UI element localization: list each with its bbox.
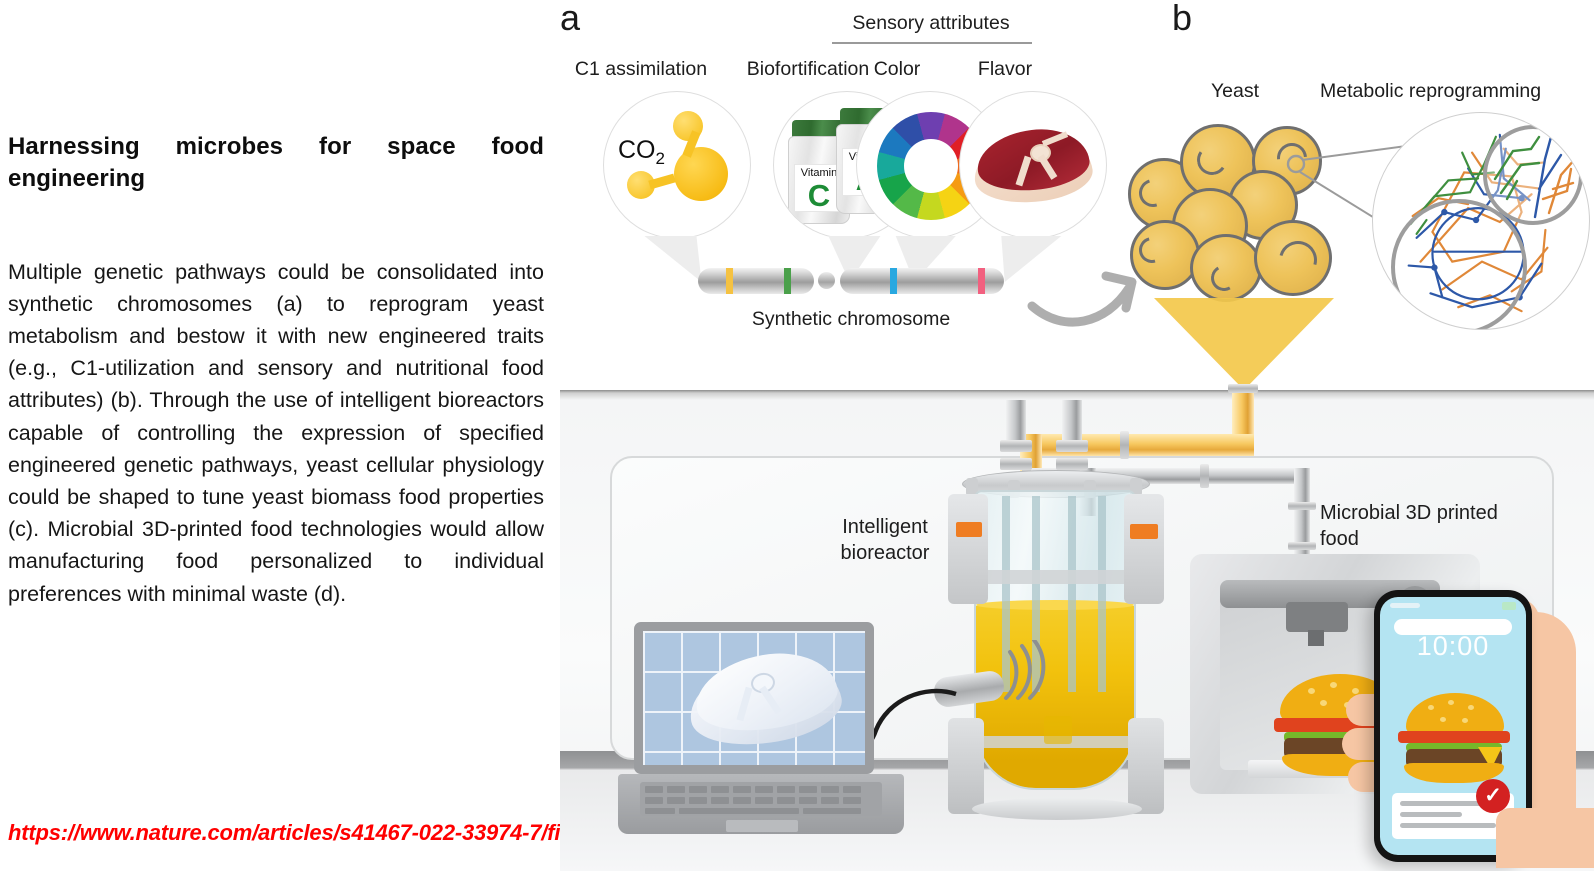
synthetic-chromosome-label: Synthetic chromosome [700, 308, 1002, 331]
internal-rod [1068, 496, 1076, 692]
panel-label-a: a [560, 0, 580, 36]
inlet-collar [1056, 440, 1088, 452]
funnel-downpipe [1232, 390, 1254, 436]
laptop [618, 622, 918, 862]
metabolic-reprogramming-label: Metabolic reprogramming [1320, 80, 1590, 103]
synthetic-chromosome [698, 266, 1004, 296]
chromosome-long-arm [840, 268, 1004, 294]
laptop-screen[interactable] [634, 622, 874, 774]
chromosome-short-arm [698, 268, 814, 294]
phone-clock: 10:00 [1380, 631, 1526, 662]
article-text-column: Harnessing microbes for space food engin… [0, 0, 560, 871]
band-biofortification [784, 268, 791, 294]
culture-surface [976, 600, 1134, 610]
hand-holding-phone: 10:00 [1320, 568, 1594, 868]
band-c1-assimilation [726, 268, 733, 294]
metabolic-reprogramming-bubble [1372, 112, 1590, 330]
hand-wrist [1496, 808, 1594, 868]
keyboard-area[interactable] [640, 782, 882, 816]
source-url-link[interactable]: https://www.nature.com/articles/s41467-0… [8, 820, 637, 846]
co2-atom-large [674, 147, 728, 201]
column-label-flavor: Flavor [960, 58, 1050, 81]
sensor-signal-waves-icon [996, 640, 1052, 714]
inlet-collar [1000, 458, 1032, 470]
feed-funnel [1154, 298, 1334, 390]
sensory-attributes-header: Sensory attributes [838, 12, 1024, 35]
column-label-c1-assimilation: C1 assimilation [560, 58, 726, 81]
figure-container: a b c d Sensory attributes C1 assimilati… [560, 0, 1594, 871]
phone-burger-image [1398, 693, 1510, 779]
inlet-collar [1000, 440, 1032, 452]
pipe-collar [1200, 464, 1209, 488]
bud-scar [1208, 262, 1240, 294]
clamp-right [1130, 524, 1158, 539]
clamp-left [956, 522, 982, 537]
yeast-cell [1130, 220, 1200, 290]
co2-formula: CO2 [618, 136, 665, 169]
laboratory-scene: Intelligent bioreactor Microbial 3D prin… [560, 390, 1594, 871]
intelligent-bioreactor-label: Intelligent bioreactor [800, 514, 970, 566]
inlet-collar [1056, 458, 1088, 470]
phone-battery-icon [1502, 602, 1516, 610]
chromosome-centromere [818, 272, 835, 289]
bud-scar [1134, 174, 1172, 212]
phone-status-left [1390, 603, 1420, 608]
metabolic-network-cell-outline [1391, 199, 1527, 330]
metabolic-network-inset-circle [1483, 125, 1583, 225]
bud-scar [1134, 232, 1170, 268]
bioreactor-base [972, 798, 1142, 820]
yeast-cell [1190, 234, 1262, 302]
band-color [890, 268, 897, 294]
pipe-collar [1288, 542, 1316, 550]
co2-bond-left [649, 173, 676, 189]
support-leg-right [1124, 494, 1164, 604]
support-leg-left [948, 494, 988, 604]
flavor-bubble [959, 91, 1107, 239]
column-label-color: Color [852, 58, 942, 81]
c1-assimilation-bubble: CO2 [603, 91, 751, 239]
pipe-collar [1288, 502, 1316, 510]
trackpad[interactable] [726, 820, 798, 832]
microbial-3d-printed-food-label: Microbial 3D printed food [1320, 500, 1510, 552]
pipe-collar [1228, 384, 1258, 393]
band-flavor [978, 268, 985, 294]
impeller [1044, 716, 1072, 744]
page-title: Harnessing microbes for space food engin… [8, 131, 544, 195]
sensory-attributes-rule [832, 42, 1032, 44]
vessel-ring-upper [974, 570, 1136, 584]
bud-scar [1195, 143, 1230, 178]
support-foot-right [1128, 718, 1164, 814]
panel-label-b: b [1172, 0, 1192, 36]
laptop-keyboard-base[interactable] [618, 774, 904, 834]
internal-rod [1098, 496, 1106, 692]
bioreactor [952, 418, 1182, 838]
article-body-text: Multiple genetic pathways could be conso… [8, 256, 544, 610]
yeast-label: Yeast [1185, 80, 1285, 103]
